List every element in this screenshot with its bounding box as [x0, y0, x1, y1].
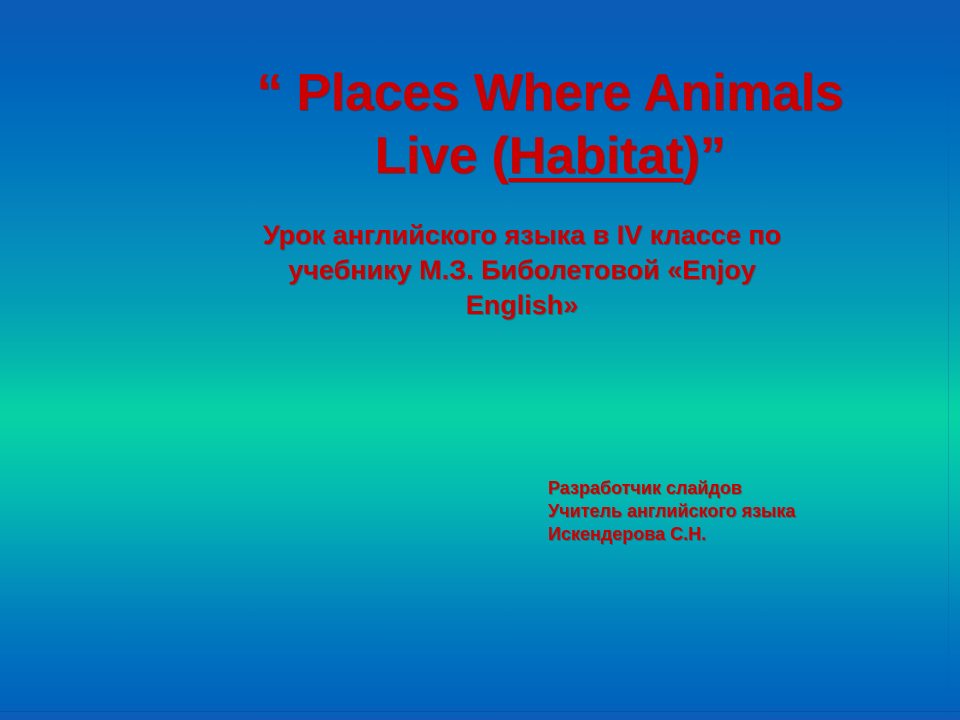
subtitle-line-1: Урок английского языка в IV классе по: [182, 218, 862, 253]
title-line-1-text: Places Where Animals: [282, 64, 843, 122]
slide-author-credits: Разработчик слайдов Учитель английского …: [548, 477, 928, 546]
title-keyword-habitat: Habitat: [509, 127, 683, 185]
subtitle-line-2: учебнику М.З. Биболетовой «Enjoy: [182, 253, 862, 288]
presentation-slide: “ Places Where Animals Live (Habitat)” У…: [0, 0, 960, 720]
author-position: Учитель английского языка: [548, 500, 928, 523]
slide-title-line-1: “ Places Where Animals: [140, 62, 960, 125]
title-line-2-prefix: Live (: [375, 127, 509, 185]
title-open-quote: “: [257, 64, 283, 122]
slide-title-line-2: Live (Habitat)”: [140, 125, 960, 188]
bottom-edge-seam: [0, 711, 960, 712]
subtitle-line-3: English»: [182, 288, 862, 323]
bottom-edge-band: [0, 716, 960, 720]
slide-subtitle: Урок английского языка в IV классе по уч…: [182, 218, 862, 323]
slide-title: “ Places Where Animals Live (Habitat)”: [140, 62, 960, 188]
title-line-2-suffix: )”: [683, 127, 726, 185]
author-role: Разработчик слайдов: [548, 477, 928, 500]
author-name: Искендерова С.Н.: [548, 523, 928, 546]
